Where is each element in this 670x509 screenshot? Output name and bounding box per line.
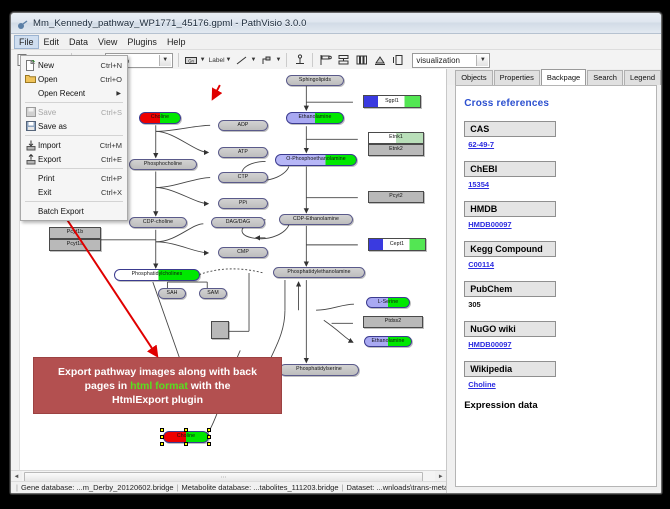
receptor-tool-group[interactable]: ▼ — [259, 53, 281, 68]
status-gene-db-label: Gene database: — [21, 483, 74, 492]
menu-item-save-as-label: Save as — [38, 122, 122, 131]
menu-file[interactable]: File — [14, 35, 39, 49]
menu-item-export-accel: Ctrl+E — [101, 155, 125, 164]
menu-view[interactable]: View — [93, 35, 122, 49]
receptor-icon[interactable] — [259, 53, 274, 68]
window-title: Mm_Kennedy_pathway_WP1771_45176.gpml - P… — [33, 18, 307, 29]
status-dataset-label: Dataset: — [346, 483, 374, 492]
xref-wikipedia-link[interactable]: Choline — [468, 380, 496, 389]
tab-properties[interactable]: Properties — [494, 70, 540, 85]
menu-item-export-label: Export — [38, 155, 101, 164]
align-left-icon[interactable] — [318, 53, 333, 68]
line-dropdown-icon[interactable]: ▼ — [250, 57, 256, 63]
xref-cas: CAS 62-49-7 — [464, 119, 648, 156]
datanode-dropdown-icon[interactable]: ▼ — [200, 57, 206, 63]
align-stack-icon[interactable] — [336, 53, 351, 68]
menu-data[interactable]: Data — [64, 35, 93, 49]
menu-item-open-label: Open — [38, 75, 100, 84]
status-dataset-value: ...wnloads\trans-meta.pgex — [376, 483, 446, 492]
toolbar-separator-4 — [312, 53, 313, 67]
xref-chebi: ChEBI 15354 — [464, 159, 648, 196]
label-dropdown-icon[interactable]: ▼ — [226, 57, 232, 63]
xref-wikipedia: Wikipedia Choline — [464, 359, 648, 396]
menu-divider-4 — [25, 201, 123, 202]
menu-item-batch-export-label: Batch Export — [38, 207, 125, 216]
status-sep-1: | — [177, 483, 179, 492]
application-window: Mm_Kennedy_pathway_WP1771_45176.gpml - P… — [10, 12, 662, 494]
save-disk-icon — [23, 107, 38, 117]
menu-item-open-accel: Ctrl+O — [100, 75, 125, 84]
submenu-arrow-icon: ▶ — [116, 90, 125, 97]
menu-item-print[interactable]: Print Ctrl+P — [21, 171, 127, 185]
backpage-content: Cross references CAS 62-49-7 ChEBI 15354… — [455, 85, 657, 487]
menu-item-new[interactable]: New Ctrl+N — [21, 58, 127, 72]
chevron-down-icon[interactable]: ▼ — [159, 55, 171, 66]
xref-wikipedia-value: Choline — [464, 377, 648, 396]
anchor-icon[interactable] — [292, 53, 307, 68]
menu-item-save[interactable]: Save Ctrl+S — [21, 105, 127, 119]
menu-item-new-label: New — [38, 61, 101, 70]
new-document-icon — [23, 60, 38, 71]
backpage-heading: Cross references — [464, 98, 648, 109]
menu-item-export[interactable]: Export Ctrl+E — [21, 152, 127, 166]
label-tool-group[interactable]: Label ▼ — [209, 57, 232, 64]
xref-chebi-label: ChEBI — [464, 161, 556, 177]
line-tool-group[interactable]: ▼ — [234, 53, 256, 68]
visualization-value: visualization — [416, 56, 460, 65]
datanode-tool-group[interactable]: Gn ▼ — [184, 53, 206, 68]
export-icon — [23, 154, 38, 165]
menu-item-import[interactable]: Import Ctrl+M — [21, 138, 127, 152]
xref-pubchem: PubChem 305 — [464, 279, 648, 316]
menu-item-new-accel: Ctrl+N — [101, 61, 125, 70]
xref-nugo-value: HMDB00097 — [464, 337, 648, 356]
xref-hmdb: HMDB HMDB00097 — [464, 199, 648, 236]
svg-text:Gn: Gn — [188, 58, 194, 63]
tab-search[interactable]: Search — [587, 70, 623, 85]
menu-item-save-as[interactable]: Save as — [21, 119, 127, 133]
expression-data-heading: Expression data — [464, 400, 648, 411]
menu-divider-2 — [25, 135, 123, 136]
group-icon[interactable] — [372, 53, 387, 68]
file-dropdown-menu: New Ctrl+N Open Ctrl+O Open Recent ▶ Sav… — [20, 55, 128, 221]
xref-nugo: NuGO wiki HMDB00097 — [464, 319, 648, 356]
line-icon[interactable] — [234, 53, 249, 68]
side-panel-tabs: Objects Properties Backpage Search Legen… — [447, 69, 661, 85]
save-as-icon — [23, 121, 38, 131]
menu-item-save-accel: Ctrl+S — [101, 108, 125, 117]
menu-item-exit[interactable]: Exit Ctrl+X — [21, 185, 127, 199]
menu-item-open-recent[interactable]: Open Recent ▶ — [21, 86, 127, 100]
open-folder-icon — [23, 74, 38, 84]
menu-bar: File Edit Data View Plugins Help — [11, 34, 661, 50]
xref-nugo-label: NuGO wiki — [464, 321, 556, 337]
title-bar: Mm_Kennedy_pathway_WP1771_45176.gpml - P… — [11, 13, 661, 34]
status-bar: | Gene database: ...m_Derby_20120602.bri… — [11, 481, 446, 493]
xref-kegg-label: Kegg Compound — [464, 241, 556, 257]
visualization-combo[interactable]: visualization ▼ — [412, 53, 490, 68]
datanode-icon[interactable]: Gn — [184, 53, 199, 68]
status-metabolite-db-value: ...tabolites_111203.bridge — [253, 483, 338, 492]
menu-help[interactable]: Help — [162, 35, 191, 49]
xref-wikipedia-label: Wikipedia — [464, 361, 556, 377]
menu-item-exit-label: Exit — [38, 188, 101, 197]
menu-item-import-accel: Ctrl+M — [100, 141, 125, 150]
menu-item-open[interactable]: Open Ctrl+O — [21, 72, 127, 86]
xref-kegg-value: C00114 — [464, 257, 648, 276]
xref-nugo-link[interactable]: HMDB00097 — [468, 340, 511, 349]
menu-item-print-label: Print — [38, 174, 101, 183]
import-icon — [23, 140, 38, 151]
menu-divider-1 — [25, 102, 123, 103]
screenshot-root: Mm_Kennedy_pathway_WP1771_45176.gpml - P… — [0, 0, 670, 509]
xref-pubchem-value: 305 — [464, 297, 648, 316]
status-sep-0: | — [16, 483, 18, 492]
xref-kegg: Kegg Compound C00114 — [464, 239, 648, 276]
menu-divider-3 — [25, 168, 123, 169]
xref-chebi-value: 15354 — [464, 177, 648, 196]
status-sep-2: | — [341, 483, 343, 492]
menu-item-open-recent-label: Open Recent — [38, 89, 116, 98]
menu-item-import-label: Import — [38, 141, 100, 150]
xref-hmdb-value: HMDB00097 — [464, 217, 648, 236]
tab-legend[interactable]: Legend — [624, 70, 661, 85]
xref-kegg-link[interactable]: C00114 — [468, 260, 494, 269]
label-tool-text: Label — [209, 57, 225, 64]
menu-edit[interactable]: Edit — [39, 35, 65, 49]
order-icon[interactable] — [390, 53, 405, 68]
pathvisio-app-icon — [17, 18, 28, 29]
status-metabolite-db-label: Metabolite database: — [182, 483, 252, 492]
tab-objects[interactable]: Objects — [455, 70, 492, 85]
xref-hmdb-link[interactable]: HMDB00097 — [468, 220, 511, 229]
menu-item-print-accel: Ctrl+P — [101, 174, 125, 183]
toolbar-separator-3 — [286, 53, 287, 67]
menu-item-exit-accel: Ctrl+X — [101, 188, 125, 197]
toolbar-separator-2 — [178, 53, 179, 67]
xref-hmdb-label: HMDB — [464, 201, 556, 217]
tab-backpage[interactable]: Backpage — [541, 69, 586, 85]
menu-item-save-label: Save — [38, 108, 101, 117]
xref-chebi-link[interactable]: 15354 — [468, 180, 489, 189]
menu-item-batch-export[interactable]: Batch Export — [21, 204, 127, 218]
xref-cas-label: CAS — [464, 121, 556, 137]
receptor-dropdown-icon[interactable]: ▼ — [275, 57, 281, 63]
status-gene-db-value: ...m_Derby_20120602.bridge — [76, 483, 173, 492]
distribute-icon[interactable] — [354, 53, 369, 68]
menu-plugins[interactable]: Plugins — [122, 35, 162, 49]
side-panel: Objects Properties Backpage Search Legen… — [447, 69, 661, 493]
xref-pubchem-label: PubChem — [464, 281, 556, 297]
xref-cas-link[interactable]: 62-49-7 — [468, 140, 494, 149]
xref-cas-value: 62-49-7 — [464, 137, 648, 156]
chevron-down-icon-2[interactable]: ▼ — [476, 55, 488, 66]
